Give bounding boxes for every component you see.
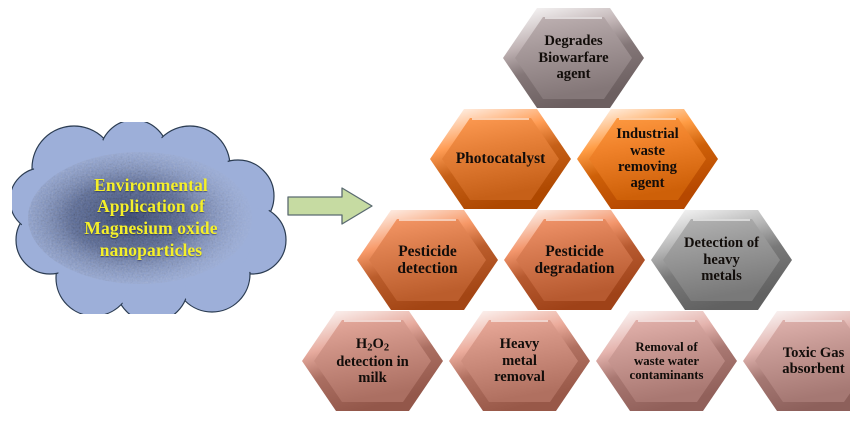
hex-heavy-metal-removal[interactable]: Heavymetalremoval (447, 309, 592, 413)
hex-shape (428, 107, 573, 211)
hex-shape (741, 309, 850, 413)
hex-shape (447, 309, 592, 413)
hex-removal-of-waste-water-contaminants[interactable]: Removal ofwaste watercontaminants (594, 309, 739, 413)
hex-h2o2-detection-in-milk[interactable]: H2O2detection inmilk (300, 309, 445, 413)
hex-shape (502, 208, 647, 312)
cloud-title-text: Environmental Application of Magnesium o… (42, 152, 260, 284)
cloud-line-1: Environmental (94, 175, 208, 197)
hex-detection-of-heavy-metals[interactable]: Detection ofheavymetals (649, 208, 794, 312)
diagram-canvas: Environmental Application of Magnesium o… (0, 0, 850, 421)
title-cloud: Environmental Application of Magnesium o… (12, 122, 290, 314)
hex-photocatalyst[interactable]: Photocatalyst (428, 107, 573, 211)
cloud-line-2: Application of (97, 196, 205, 218)
hex-toxic-gas-absorbent[interactable]: Toxic Gasabsorbent (741, 309, 850, 413)
cloud-line-4: nanoparticles (100, 240, 202, 262)
hex-pesticide-degradation[interactable]: Pesticidedegradation (502, 208, 647, 312)
hex-shape (649, 208, 794, 312)
hex-shape (501, 6, 646, 110)
hex-pesticide-detection[interactable]: Pesticidedetection (355, 208, 500, 312)
hex-shape (355, 208, 500, 312)
hex-shape (575, 107, 720, 211)
hex-shape (594, 309, 739, 413)
hex-industrial-waste-removing-agent[interactable]: Industrialwasteremovingagent (575, 107, 720, 211)
cloud-line-3: Magnesium oxide (84, 218, 217, 240)
hex-shape (300, 309, 445, 413)
hex-degrades-biowarfare-agent[interactable]: DegradesBiowarfareagent (501, 6, 646, 110)
